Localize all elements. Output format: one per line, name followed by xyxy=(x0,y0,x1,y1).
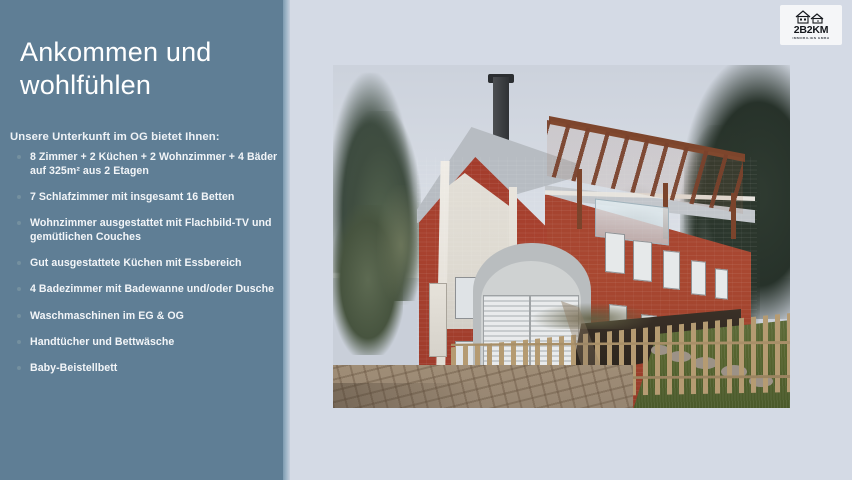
photo-pergola-post xyxy=(731,193,736,239)
bullet-dot-icon xyxy=(17,221,21,225)
bullet-dot-icon xyxy=(17,314,21,318)
page-title: Ankommen und wohlfühlen xyxy=(20,36,270,102)
list-item: Handtücher und Bettwäsche xyxy=(10,335,282,349)
logo-subtitle: IMMOBILIEN GMBH xyxy=(792,37,829,40)
list-item-label: 4 Badezimmer mit Badewanne und/oder Dusc… xyxy=(30,282,274,296)
bullet-dot-icon xyxy=(17,287,21,291)
house-logo-icon xyxy=(794,9,828,24)
list-item-label: Wohnzimmer ausgestattet mit Flachbild-TV… xyxy=(30,216,282,244)
list-item-label: Gut ausgestattete Küchen mit Essbereich xyxy=(30,256,242,270)
photo-window xyxy=(605,232,625,274)
bullet-dot-icon xyxy=(17,366,21,370)
intro-text: Unsere Unterkunft im OG bietet Ihnen: xyxy=(10,131,272,143)
list-item: Baby-Beistellbett xyxy=(10,361,282,375)
bullet-dot-icon xyxy=(17,340,21,344)
list-item-label: 8 Zimmer + 2 Küchen + 2 Wohnzimmer + 4 B… xyxy=(30,150,282,178)
photo-window xyxy=(663,250,680,290)
property-photo xyxy=(333,65,790,408)
list-item-label: Baby-Beistellbett xyxy=(30,361,117,375)
photo-pergola-post xyxy=(577,169,582,229)
page-title-line2: wohlfühlen xyxy=(20,69,270,102)
company-logo: 2B2KM IMMOBILIEN GMBH xyxy=(780,5,842,45)
list-item-label: 7 Schlafzimmer mit insgesamt 16 Betten xyxy=(30,190,234,204)
logo-wordmark: 2B2KM xyxy=(794,25,829,36)
panel-divider xyxy=(283,0,290,480)
bullet-dot-icon xyxy=(17,155,21,159)
bullet-dot-icon xyxy=(17,261,21,265)
photo-foreground-shadow xyxy=(333,383,483,408)
page-title-line1: Ankommen und xyxy=(20,36,270,69)
list-item: Waschmaschinen im EG & OG xyxy=(10,309,282,323)
list-item: 4 Badezimmer mit Badewanne und/oder Dusc… xyxy=(10,282,282,296)
feature-list: 8 Zimmer + 2 Küchen + 2 Wohnzimmer + 4 B… xyxy=(10,150,282,375)
photo-window xyxy=(715,268,728,299)
list-item: Gut ausgestattete Küchen mit Essbereich xyxy=(10,256,282,270)
bullet-dot-icon xyxy=(17,195,21,199)
list-item: 7 Schlafzimmer mit insgesamt 16 Betten xyxy=(10,190,282,204)
photo-window xyxy=(691,260,706,296)
photo-tree-left xyxy=(377,185,425,305)
list-item-label: Waschmaschinen im EG & OG xyxy=(30,309,184,323)
slide-root: Ankommen und wohlfühlen Unsere Unterkunf… xyxy=(0,0,852,480)
list-item-label: Handtücher und Bettwäsche xyxy=(30,335,174,349)
list-item: Wohnzimmer ausgestattet mit Flachbild-TV… xyxy=(10,216,282,244)
list-item: 8 Zimmer + 2 Küchen + 2 Wohnzimmer + 4 B… xyxy=(10,150,282,178)
photo-window xyxy=(633,240,652,282)
